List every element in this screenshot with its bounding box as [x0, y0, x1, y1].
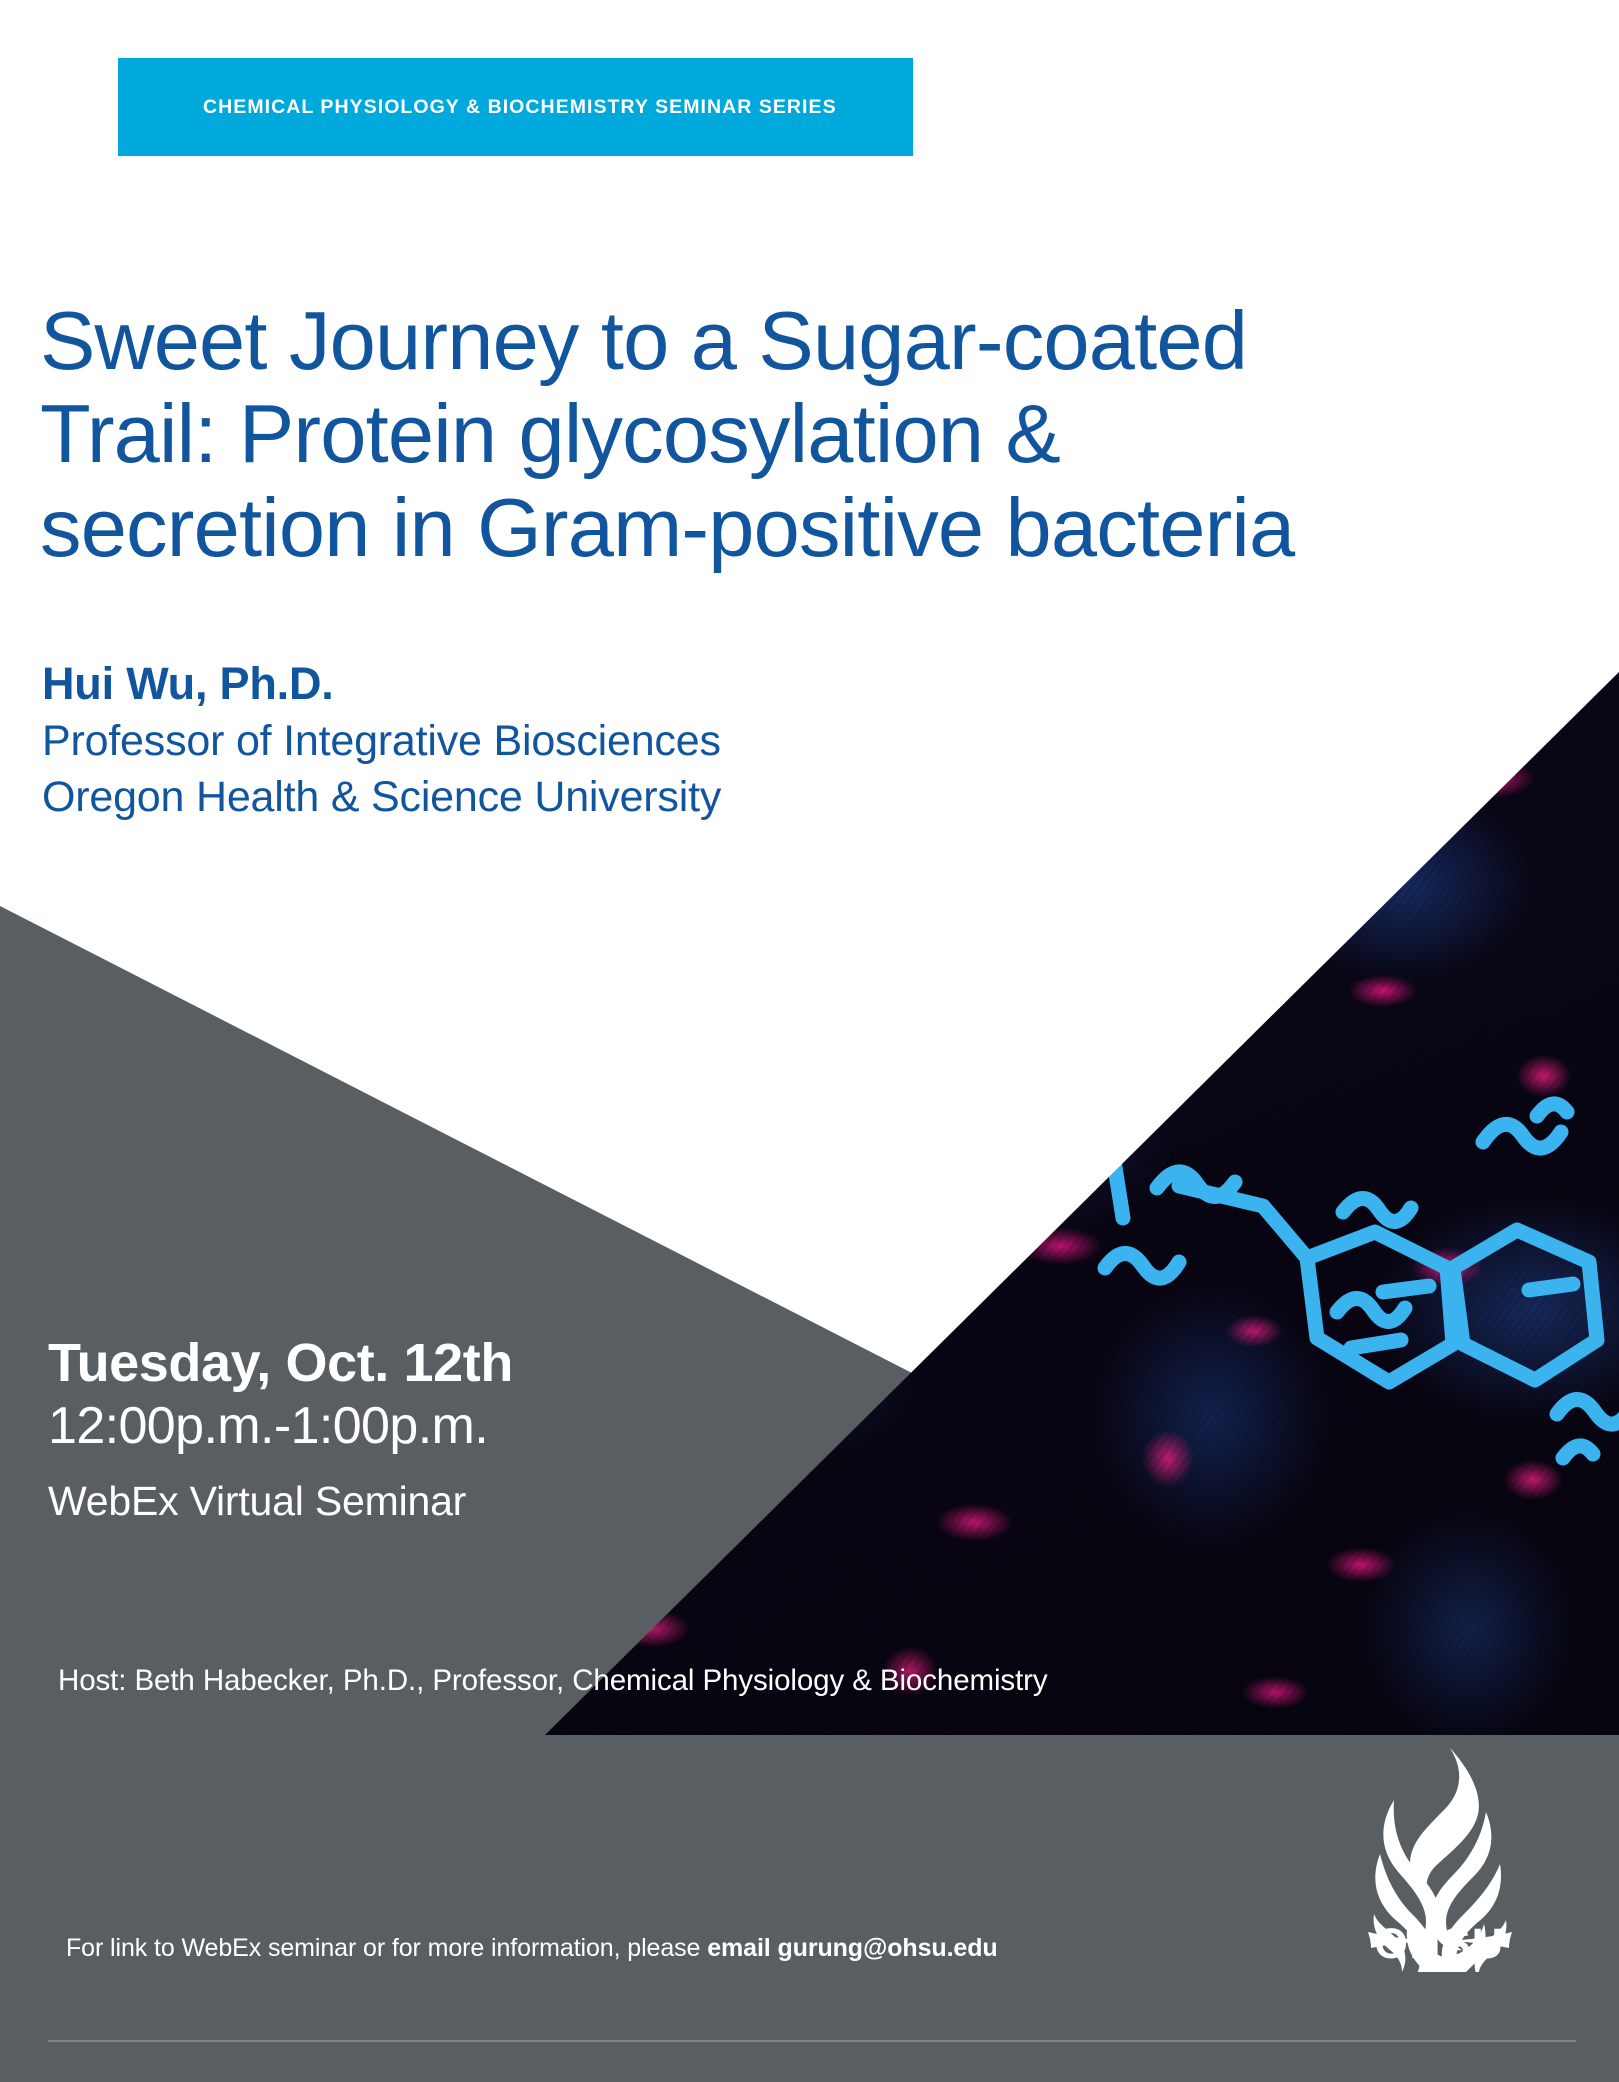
footer-divider: [48, 2040, 1576, 2042]
event-format: WebEx Virtual Seminar: [48, 1477, 513, 1526]
seminar-series-label: CHEMICAL PHYSIOLOGY & BIOCHEMISTRY SEMIN…: [203, 96, 837, 119]
title-line-3: secretion in Gram-positive bacteria: [40, 481, 1470, 575]
title-line-2: Trail: Protein glycosylation &: [40, 387, 1470, 481]
host-line: Host: Beth Habecker, Ph.D., Professor, C…: [58, 1664, 1048, 1698]
seminar-series-banner: CHEMICAL PHYSIOLOGY & BIOCHEMISTRY SEMIN…: [118, 58, 913, 156]
ohsu-wordmark: OHSU: [1332, 1920, 1547, 1969]
speaker-name: Hui Wu, Ph.D.: [42, 655, 721, 713]
ohsu-logo: OHSU: [1332, 1742, 1547, 1972]
microscopy-texture: [545, 672, 1619, 1735]
title-line-1: Sweet Journey to a Sugar-coated: [40, 294, 1470, 388]
footer-contact-prefix: For link to WebEx seminar or for more in…: [66, 1934, 707, 1962]
fluorescence-microscopy-bacteria-image: [545, 672, 1619, 1735]
speaker-role: Professor of Integrative Biosciences: [42, 713, 721, 770]
event-details-block: Tuesday, Oct. 12th 12:00p.m.-1:00p.m. We…: [48, 1332, 513, 1526]
speaker-block: Hui Wu, Ph.D. Professor of Integrative B…: [42, 655, 721, 826]
event-date: Tuesday, Oct. 12th: [48, 1332, 513, 1395]
contact-email-link[interactable]: email gurung@ohsu.edu: [707, 1934, 997, 1962]
speaker-organization: Oregon Health & Science University: [42, 769, 721, 826]
seminar-poster: CHEMICAL PHYSIOLOGY & BIOCHEMISTRY SEMIN…: [0, 0, 1619, 2082]
page-title: Sweet Journey to a Sugar-coated Trail: P…: [40, 294, 1470, 575]
event-time: 12:00p.m.-1:00p.m.: [48, 1395, 513, 1457]
footer-contact-line: For link to WebEx seminar or for more in…: [66, 1934, 998, 1963]
